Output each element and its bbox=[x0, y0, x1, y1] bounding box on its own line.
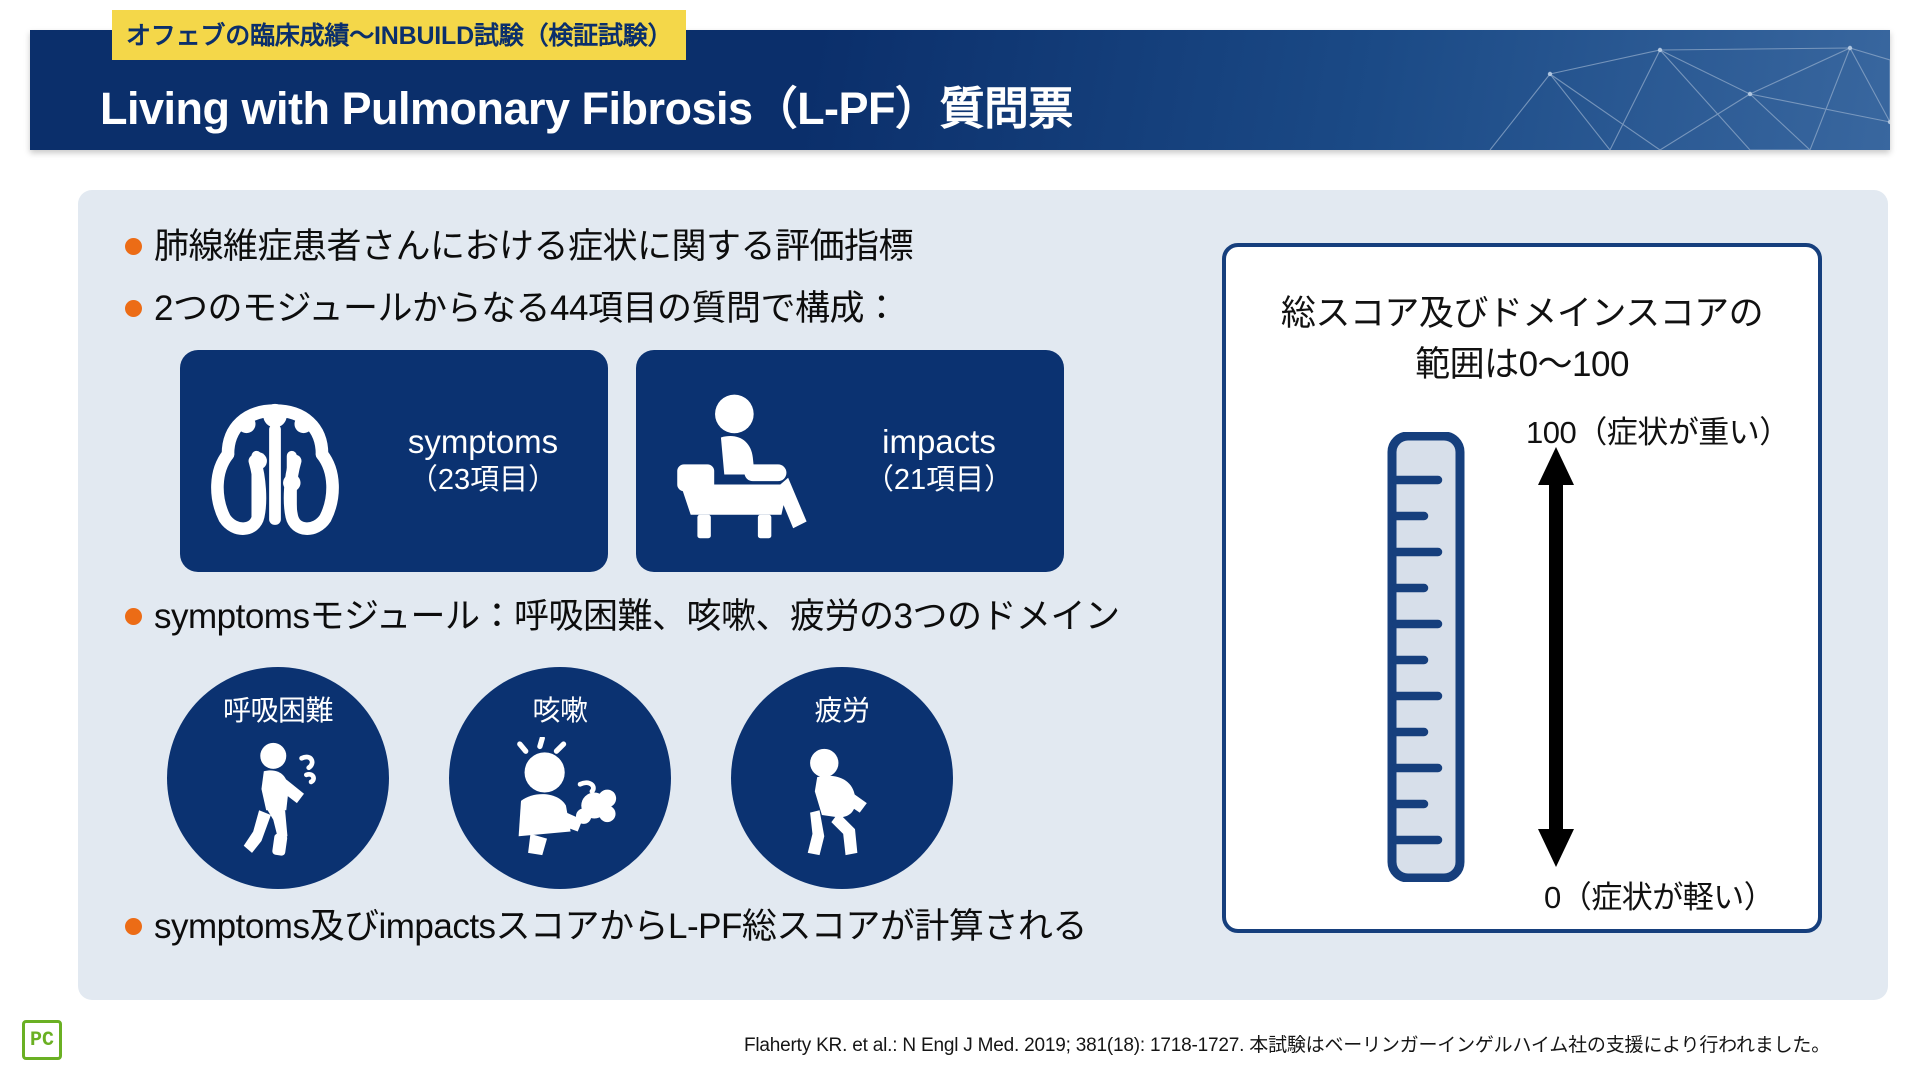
brand-logo: PC bbox=[22, 1020, 62, 1060]
double-headed-arrow-icon bbox=[1526, 447, 1586, 867]
bullet-dot-icon bbox=[125, 918, 142, 935]
lungs-icon bbox=[180, 377, 370, 545]
bullet-text: symptomsモジュール：呼吸困難、咳嗽、疲労の3つのドメイン bbox=[154, 595, 1119, 639]
domain-label: 咳嗽 bbox=[532, 689, 587, 729]
score-range-card: 総スコア及びドメインスコアの 範囲は0〜100 bbox=[1222, 243, 1822, 933]
domain-circle-fatigue: 疲労 bbox=[731, 667, 953, 889]
coughing-person-icon bbox=[449, 719, 671, 885]
network-polygon-decoration bbox=[1190, 30, 1890, 150]
score-min-label: 0（症状が軽い） bbox=[1544, 872, 1774, 917]
ruler-graphic bbox=[1376, 432, 1476, 882]
bullet-text: 肺線維症患者さんにおける症状に関する評価指標 bbox=[154, 225, 913, 269]
bullet-item-modules: 2つのモジュールからなる44項目の質問で構成： bbox=[125, 287, 898, 331]
bullet-dot-icon bbox=[125, 238, 142, 255]
domain-circle-group: 呼吸困難 bbox=[167, 667, 953, 889]
module-name: symptoms bbox=[370, 422, 596, 462]
bullet-dot-icon bbox=[125, 300, 142, 317]
module-count: （21項目） bbox=[826, 461, 1052, 500]
eyebrow-label: オフェブの臨床成績〜INBUILD試験（検証試験） bbox=[126, 22, 672, 50]
score-card-title-line1: 総スコア及びドメインスコアの bbox=[1226, 289, 1818, 340]
eyebrow-chip: オフェブの臨床成績〜INBUILD試験（検証試験） bbox=[112, 10, 686, 60]
module-count: （23項目） bbox=[370, 461, 596, 500]
score-max-label: 100（症状が重い） bbox=[1526, 407, 1790, 452]
bullet-item-symptoms-domains: symptomsモジュール：呼吸困難、咳嗽、疲労の3つのドメイン bbox=[125, 595, 1119, 639]
module-card-symptoms: symptoms （23項目） bbox=[180, 350, 608, 572]
bullet-item-evaluation-index: 肺線維症患者さんにおける症状に関する評価指標 bbox=[125, 225, 913, 269]
person-in-armchair-icon bbox=[636, 377, 826, 545]
module-name: impacts bbox=[826, 422, 1052, 462]
domain-label: 疲労 bbox=[814, 689, 869, 729]
domain-label: 呼吸困難 bbox=[223, 689, 333, 729]
module-labels: symptoms （23項目） bbox=[370, 422, 608, 501]
bullet-text: 2つのモジュールからなる44項目の質問で構成： bbox=[154, 287, 898, 331]
module-card-group: symptoms （23項目） bbox=[180, 350, 1064, 572]
bullet-item-total-score: symptoms及びimpactsスコアからL-PF総スコアが計算される bbox=[125, 905, 1087, 949]
domain-circle-dyspnea: 呼吸困難 bbox=[167, 667, 389, 889]
score-card-title-line2: 範囲は0〜100 bbox=[1226, 340, 1818, 391]
breathless-person-icon bbox=[167, 719, 389, 885]
page-title: Living with Pulmonary Fibrosis（L-PF）質問票 bbox=[100, 72, 1073, 137]
bullet-dot-icon bbox=[125, 608, 142, 625]
score-card-title: 総スコア及びドメインスコアの 範囲は0〜100 bbox=[1226, 289, 1818, 391]
module-card-impacts: impacts （21項目） bbox=[636, 350, 1064, 572]
bullet-text: symptoms及びimpactsスコアからL-PF総スコアが計算される bbox=[154, 905, 1087, 949]
citation-text: Flaherty KR. et al.: N Engl J Med. 2019;… bbox=[744, 1030, 1830, 1057]
fatigued-person-icon bbox=[731, 719, 953, 885]
module-labels: impacts （21項目） bbox=[826, 422, 1064, 501]
domain-circle-cough: 咳嗽 bbox=[449, 667, 671, 889]
